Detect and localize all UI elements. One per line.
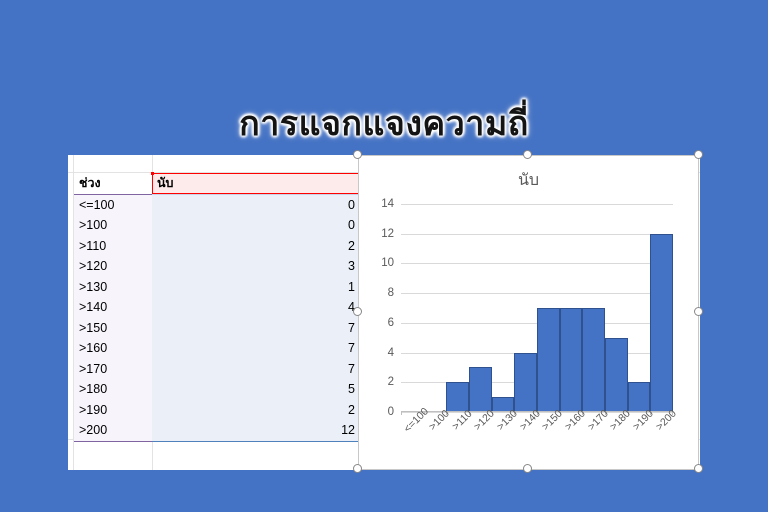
chart-resize-handle-bottom-right[interactable] xyxy=(694,464,703,473)
cell-bin[interactable]: >140 xyxy=(74,297,152,318)
chart-y-tick-label: 6 xyxy=(388,317,394,329)
chart-y-tick-label: 8 xyxy=(388,287,394,299)
cell-count[interactable]: 0 xyxy=(152,215,360,236)
cell-bin[interactable]: >200 xyxy=(74,420,152,441)
chart-bar-slot xyxy=(469,204,492,412)
cell-bin[interactable]: >160 xyxy=(74,338,152,359)
table-row: >1902 xyxy=(74,400,360,421)
chart-bar[interactable] xyxy=(469,367,492,412)
cell-count[interactable]: 1 xyxy=(152,277,360,298)
chart-x-axis-tick-label: >200 xyxy=(653,408,678,433)
table-header-row: ช่วง นับ xyxy=(74,173,360,194)
table-body: <=1000>1000>1102>1203>1301>1404>1507>160… xyxy=(74,194,360,441)
chart-bar[interactable] xyxy=(537,308,560,412)
chart-y-tick-label: 4 xyxy=(388,347,394,359)
presentation-slide: การแจกแจงความถี่ ช่วง นับ <=1000>1000>11… xyxy=(0,0,768,512)
chart-bar-slot xyxy=(605,204,628,412)
chart-x-label-slot: >190 xyxy=(628,412,651,462)
chart-x-label-slot: >100 xyxy=(424,412,447,462)
table-row: >1102 xyxy=(74,236,360,257)
cell-bin[interactable]: >170 xyxy=(74,359,152,380)
table-row: >1404 xyxy=(74,297,360,318)
cell-count[interactable]: 12 xyxy=(152,420,360,441)
cell-bin[interactable]: >130 xyxy=(74,277,152,298)
cell-count[interactable]: 3 xyxy=(152,256,360,277)
frequency-table[interactable]: ช่วง นับ <=1000>1000>1102>1203>1301>1404… xyxy=(74,173,360,442)
chart-bar-slot xyxy=(650,204,673,412)
chart-resize-handle-middle-left[interactable] xyxy=(353,307,362,316)
chart-bar[interactable] xyxy=(560,308,583,412)
column-header-count[interactable]: นับ xyxy=(152,173,360,194)
chart-x-label-slot: >140 xyxy=(514,412,537,462)
chart-x-label-slot: >160 xyxy=(560,412,583,462)
chart-x-label-slot: >150 xyxy=(537,412,560,462)
cell-count[interactable]: 7 xyxy=(152,359,360,380)
chart-resize-handle-top-center[interactable] xyxy=(523,150,532,159)
chart-bar-slot xyxy=(582,204,605,412)
cell-bin[interactable]: >100 xyxy=(74,215,152,236)
chart-bar-slot xyxy=(537,204,560,412)
cell-bin[interactable]: >110 xyxy=(74,236,152,257)
chart-bars[interactable] xyxy=(401,204,673,412)
chart-bar[interactable] xyxy=(582,308,605,412)
histogram-chart[interactable]: นับ 02468101214 <=100>100>110>120>130>14… xyxy=(358,155,699,470)
chart-resize-handle-top-right[interactable] xyxy=(694,150,703,159)
chart-y-tick-label: 14 xyxy=(381,198,394,210)
chart-plot-area: 02468101214 xyxy=(401,204,673,412)
chart-bar[interactable] xyxy=(605,338,628,412)
chart-x-label-slot: >200 xyxy=(650,412,673,462)
cell-bin[interactable]: >190 xyxy=(74,400,152,421)
chart-bar-slot xyxy=(446,204,469,412)
cell-count[interactable]: 4 xyxy=(152,297,360,318)
table-row: >1805 xyxy=(74,379,360,400)
cell-count[interactable]: 7 xyxy=(152,338,360,359)
chart-x-label-slot: >180 xyxy=(605,412,628,462)
chart-y-tick-label: 10 xyxy=(381,257,394,269)
chart-bar[interactable] xyxy=(514,353,537,412)
cell-count[interactable]: 2 xyxy=(152,400,360,421)
chart-bar-slot xyxy=(424,204,447,412)
cell-count[interactable]: 7 xyxy=(152,318,360,339)
chart-x-label-slot: >120 xyxy=(469,412,492,462)
chart-y-tick-label: 12 xyxy=(381,228,394,240)
chart-bar-slot xyxy=(514,204,537,412)
chart-x-label-slot: >110 xyxy=(446,412,469,462)
chart-y-tick-label: 0 xyxy=(388,406,394,418)
cell-bin[interactable]: <=100 xyxy=(74,194,152,215)
chart-resize-handle-middle-right[interactable] xyxy=(694,307,703,316)
cell-bin[interactable]: >180 xyxy=(74,379,152,400)
table-row: >1607 xyxy=(74,338,360,359)
table-row: >1301 xyxy=(74,277,360,298)
chart-x-axis-labels: <=100>100>110>120>130>140>150>160>170>18… xyxy=(401,412,673,462)
table-row: >1507 xyxy=(74,318,360,339)
table-row: >1000 xyxy=(74,215,360,236)
table-row: >1203 xyxy=(74,256,360,277)
chart-x-label-slot: >170 xyxy=(582,412,605,462)
chart-bar-slot xyxy=(401,204,424,412)
table-row: <=1000 xyxy=(74,194,360,215)
cell-bin[interactable]: >150 xyxy=(74,318,152,339)
page-title: การแจกแจงความถี่ xyxy=(0,96,768,150)
table-row: >20012 xyxy=(74,420,360,441)
worksheet-canvas[interactable]: ช่วง นับ <=1000>1000>1102>1203>1301>1404… xyxy=(68,155,700,470)
cell-count[interactable]: 2 xyxy=(152,236,360,257)
chart-resize-handle-bottom-left[interactable] xyxy=(353,464,362,473)
table-row: >1707 xyxy=(74,359,360,380)
chart-x-label-slot: >130 xyxy=(492,412,515,462)
cell-bin[interactable]: >120 xyxy=(74,256,152,277)
chart-x-label-slot: <=100 xyxy=(401,412,424,462)
column-header-bin[interactable]: ช่วง xyxy=(74,173,152,194)
chart-title: นับ xyxy=(359,168,698,193)
chart-bar[interactable] xyxy=(650,234,673,412)
cell-count[interactable]: 0 xyxy=(152,194,360,215)
cell-count[interactable]: 5 xyxy=(152,379,360,400)
chart-resize-handle-bottom-center[interactable] xyxy=(523,464,532,473)
chart-bar-slot xyxy=(492,204,515,412)
chart-y-tick-label: 2 xyxy=(388,376,394,388)
chart-bar-slot xyxy=(628,204,651,412)
chart-resize-handle-top-left[interactable] xyxy=(353,150,362,159)
chart-bar-slot xyxy=(560,204,583,412)
